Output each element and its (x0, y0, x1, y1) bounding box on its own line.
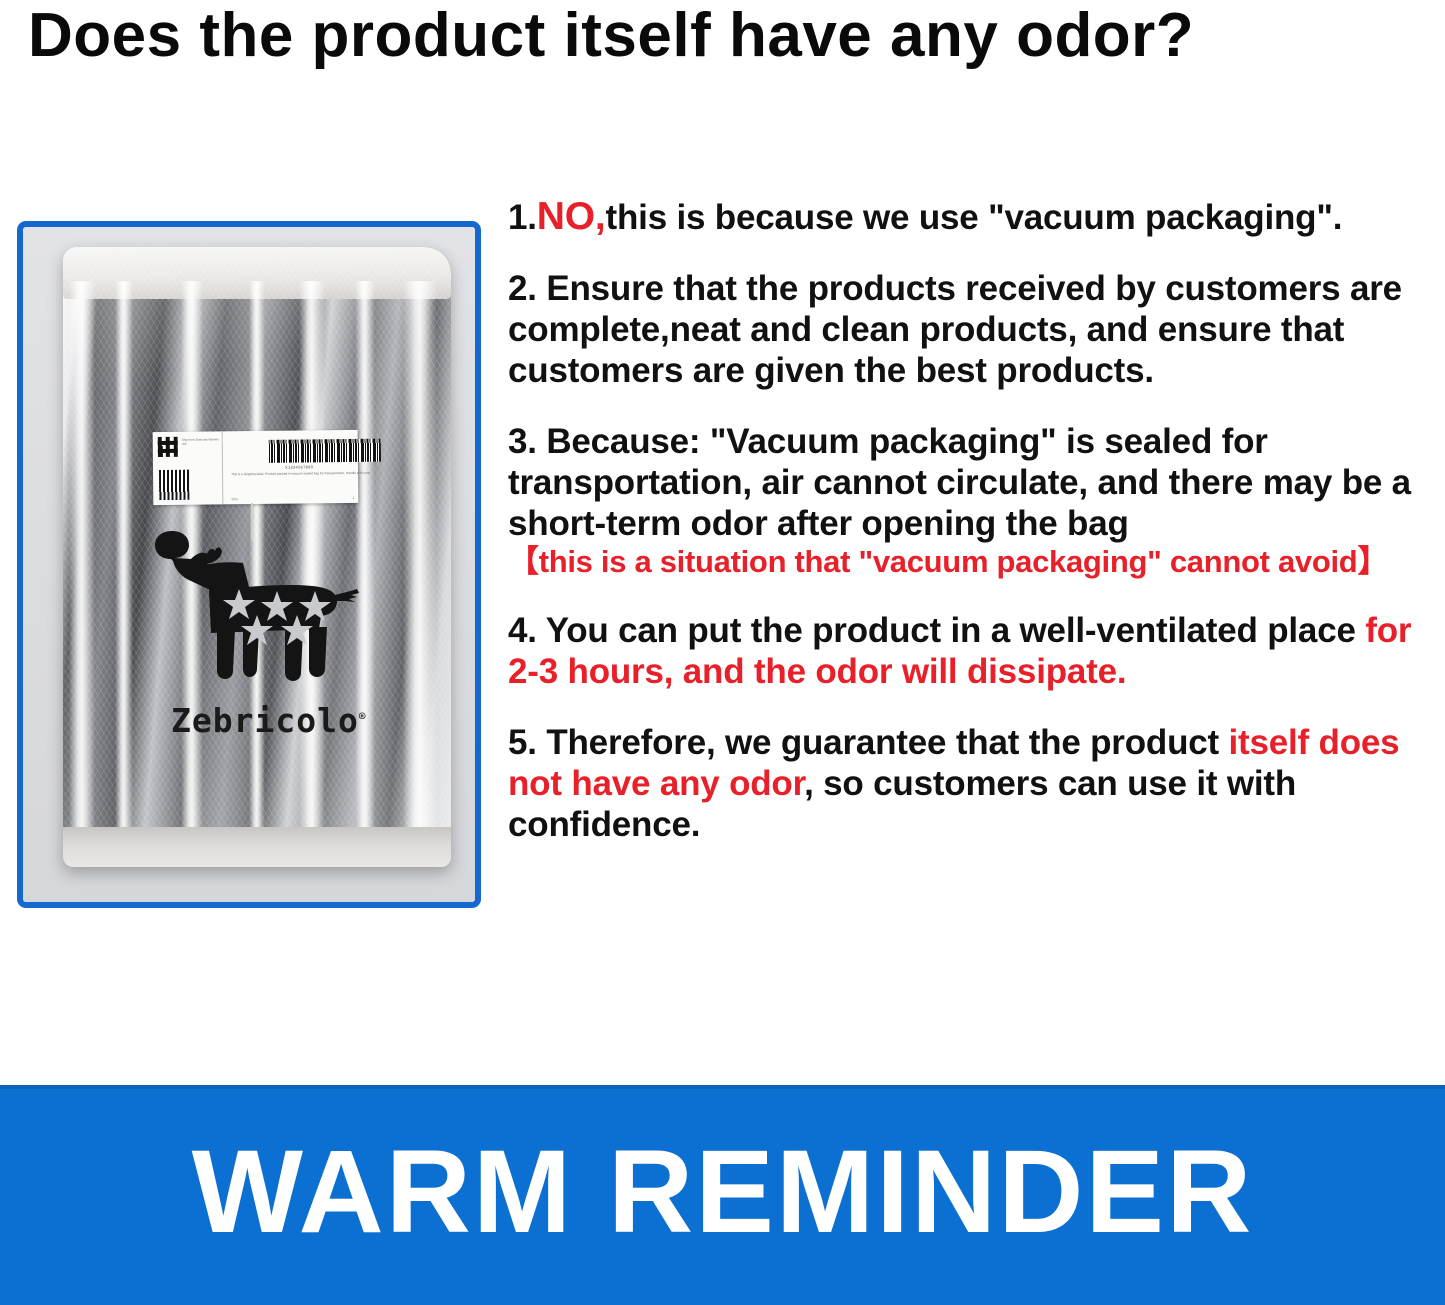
barcode-number: X1234567890 (285, 464, 313, 469)
brand-name: Zebricolo (171, 701, 359, 740)
list-item-number: 4. (508, 611, 537, 650)
list-item-text: Because: "Vacuum packaging" is sealed fo… (508, 422, 1411, 543)
shipping-label-right: X1234567890 This is a shipping label. Pr… (223, 430, 359, 504)
list-item: 1.NO,this is because we use "vacuum pack… (508, 196, 1420, 238)
list-item: 5. Therefore, we guarantee that the prod… (508, 722, 1420, 845)
brand-wordmark: Zebricolo® (171, 701, 366, 740)
label-tail (251, 503, 253, 541)
product-photo-frame: Zebricolo® Ship from Zebricolo Warehouse… (17, 221, 481, 908)
list-item: 2. Ensure that the products received by … (508, 268, 1420, 391)
list-item-text: this is because we use "vacuum packaging… (606, 198, 1343, 237)
bag-crease (403, 281, 437, 841)
list-item-text: Ensure that the products received by cus… (508, 269, 1402, 390)
shipping-label-body: This is a shipping label. Product packed… (231, 471, 377, 477)
bag-top-seal (63, 247, 451, 299)
list-item-number: 5. (508, 723, 537, 762)
list-item-text: Therefore, we guarantee that the product (546, 723, 1228, 762)
shipping-label-left: Ship from Zebricolo Warehouse (153, 431, 224, 505)
odor-explanation-list: 1.NO,this is because we use "vacuum pack… (508, 196, 1420, 845)
list-item: 3. Because: "Vacuum packaging" is sealed… (508, 421, 1420, 580)
barcode-icon (269, 439, 381, 463)
vacuum-sealed-bag: Zebricolo® Ship from Zebricolo Warehouse… (63, 247, 451, 867)
qr-code-icon (159, 470, 189, 500)
page-title: Does the product itself have any odor? (28, 0, 1418, 72)
list-item-number: 1. (508, 198, 537, 237)
product-photo: Zebricolo® Ship from Zebricolo Warehouse… (23, 227, 475, 902)
shipping-label-corner: 1 (352, 496, 354, 500)
list-item-note: 【this is a situation that "vacuum packag… (508, 544, 1420, 580)
bag-crease (69, 281, 95, 841)
list-item: 4. You can put the product in a well-ven… (508, 610, 1420, 692)
datamatrix-icon (158, 437, 178, 457)
bag-bottom-seal (63, 827, 451, 867)
shipping-label-sender: Ship from Zebricolo Warehouse (182, 437, 220, 446)
shipping-label: Ship from Zebricolo Warehouse X123456789… (153, 430, 359, 505)
list-item-text: You can put the product in a well-ventil… (546, 611, 1366, 650)
warm-reminder-banner: WARM REMINDER (0, 1085, 1445, 1305)
list-item-number: 2. (508, 269, 537, 308)
registered-mark-icon: ® (359, 710, 367, 723)
warm-reminder-text: WARM REMINDER (0, 1133, 1445, 1251)
giraffe-logo-icon (151, 529, 401, 704)
shipping-label-sku: SKU (231, 497, 238, 501)
list-item-highlight: NO, (537, 195, 606, 238)
brand-logo: Zebricolo® (151, 529, 401, 754)
list-item-number: 3. (508, 422, 537, 461)
bag-crease (115, 281, 133, 841)
